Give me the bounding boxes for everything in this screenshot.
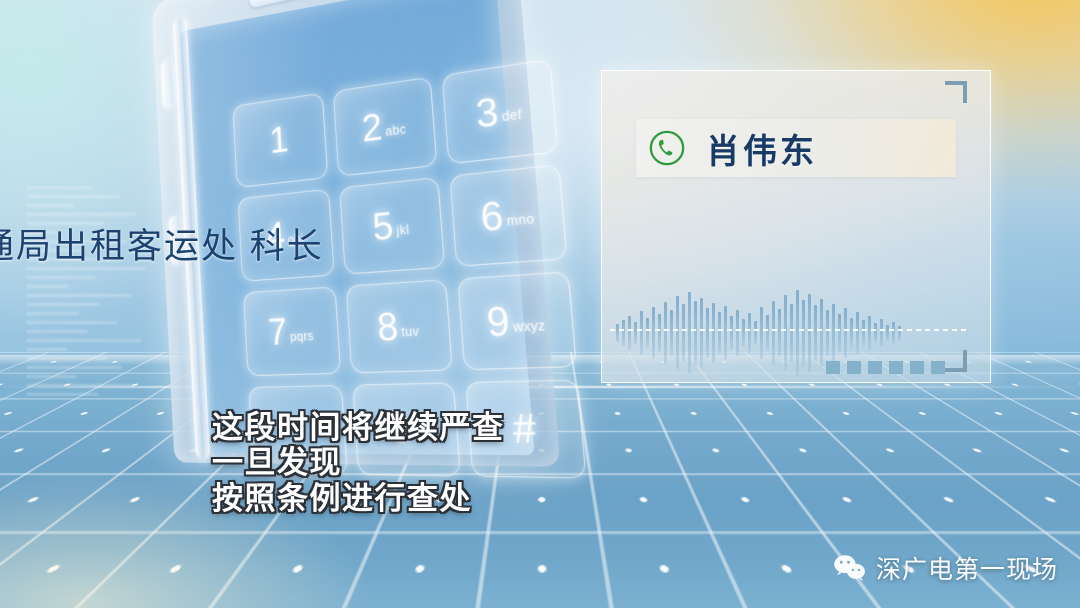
waveform-bar — [820, 299, 823, 367]
waveform-bar — [718, 312, 721, 354]
volume-up-button — [161, 60, 175, 109]
waveform-bar — [862, 320, 865, 346]
waveform-bar — [676, 296, 679, 370]
keypad-letters: abc — [385, 122, 407, 139]
caller-title: 公共交通局出租客运处 科长 — [0, 218, 408, 269]
waveform-bar — [796, 290, 799, 376]
waveform-bar — [694, 301, 697, 365]
waveform-bar — [682, 304, 685, 362]
waveform-bar — [868, 316, 871, 350]
phone-handset-icon — [648, 129, 686, 167]
waveform-bar — [652, 307, 655, 359]
waveform-bar — [814, 305, 817, 361]
waveform-bar — [838, 314, 841, 352]
texture-line — [26, 312, 79, 315]
caller-name-band: 肖伟东 — [636, 119, 956, 177]
waveform-bar — [790, 304, 793, 362]
keypad-digit: 1 — [269, 121, 290, 160]
keypad-digit: 3 — [475, 93, 500, 136]
keypad-letters: mno — [506, 211, 535, 228]
waveform-bar — [832, 304, 835, 362]
waveform-bar — [628, 316, 631, 350]
audio-level-square — [826, 361, 840, 374]
texture-line — [26, 276, 96, 279]
subtitle-line: 一旦发现 — [212, 445, 505, 480]
waveform-bar — [826, 310, 829, 356]
waveform-bar — [634, 322, 637, 344]
keypad-digit: # — [511, 408, 538, 450]
keypad-digit: 7 — [267, 313, 288, 351]
waveform-bar — [766, 315, 769, 351]
audio-level-square — [868, 361, 882, 374]
waveform-bar — [748, 313, 751, 353]
audio-level-squares — [826, 361, 945, 374]
keypad-digit: 9 — [485, 301, 511, 343]
keypad-key-8: 8tuv — [345, 279, 453, 374]
waveform-bar — [742, 319, 745, 347]
keypad-digit: 2 — [361, 109, 384, 150]
watermark-label: 深广电第一现场 — [876, 550, 1058, 586]
keypad-key-1: 1 — [232, 93, 328, 188]
audio-level-square — [847, 361, 861, 374]
corner-bracket-top-right-icon — [945, 81, 967, 103]
waveform-bar — [850, 318, 853, 348]
waveform-bar — [640, 311, 643, 355]
texture-line — [26, 348, 67, 351]
waveform-bar — [856, 312, 859, 354]
waveform-bar — [874, 323, 877, 343]
keypad-letters: pqrs — [290, 329, 314, 344]
keypad-key-9: 9wxyz — [458, 271, 577, 371]
keypad-letters: tuv — [401, 324, 420, 339]
waveform-bar — [616, 324, 619, 342]
texture-line — [26, 186, 92, 189]
keypad-letters: def — [501, 107, 522, 124]
keypad-key-3: 3def — [442, 59, 558, 164]
waveform-bar — [688, 292, 691, 374]
subtitle-line: 按照条例进行查处 — [212, 481, 505, 516]
waveform-bar — [802, 300, 805, 366]
subtitle-line: 这段时间将继续严查 — [212, 410, 505, 445]
keypad-digit: 6 — [479, 196, 505, 238]
channel-watermark: 深广电第一现场 — [833, 550, 1058, 586]
waveform-bar — [784, 295, 787, 371]
waveform-bar — [808, 294, 811, 372]
texture-line — [26, 285, 69, 288]
waveform-bar — [670, 310, 673, 356]
waveform-bar — [760, 307, 763, 359]
caller-name: 肖伟东 — [706, 124, 817, 173]
audio-level-square — [931, 361, 945, 374]
audio-level-square — [889, 361, 903, 374]
waveform-bar — [712, 303, 715, 363]
waveform-bar — [772, 301, 775, 365]
waveform-center-axis — [610, 329, 966, 331]
waveform-bar — [658, 314, 661, 352]
keypad-digit: 8 — [376, 307, 399, 347]
audio-level-square — [910, 361, 924, 374]
texture-line — [26, 303, 100, 306]
texture-line — [26, 375, 76, 378]
waveform-bar — [730, 316, 733, 350]
subtitle-block: 这段时间将继续严查 一旦发现 按照条例进行查处 — [212, 410, 505, 516]
keypad-key-7: 7pqrs — [243, 286, 341, 377]
waveform-bar — [706, 308, 709, 358]
keypad-key-6: 6mno — [450, 164, 568, 267]
waveform-bar — [844, 308, 847, 358]
texture-line — [26, 393, 98, 396]
caller-info-panel: 肖伟东 — [601, 70, 991, 383]
waveform-bar — [724, 306, 727, 360]
waveform-bar — [880, 319, 883, 347]
waveform-bar — [736, 310, 739, 356]
wechat-icon — [833, 553, 867, 583]
texture-line — [26, 330, 88, 333]
waveform-bar — [622, 320, 625, 346]
waveform-bar — [886, 325, 889, 341]
waveform-bar — [892, 322, 895, 344]
video-frame: 12abc3def4ghi5jkl6mno7pqrs8tuv9wxyz*0+# … — [0, 0, 1080, 608]
texture-line — [26, 204, 74, 207]
waveform-bar — [754, 321, 757, 345]
waveform-bar — [700, 298, 703, 368]
keypad-letters: wxyz — [513, 318, 547, 335]
waveform-bar — [664, 302, 667, 364]
waveform-bar — [778, 309, 781, 357]
waveform-bar — [646, 318, 649, 348]
keypad-key-2: 2abc — [332, 77, 437, 177]
